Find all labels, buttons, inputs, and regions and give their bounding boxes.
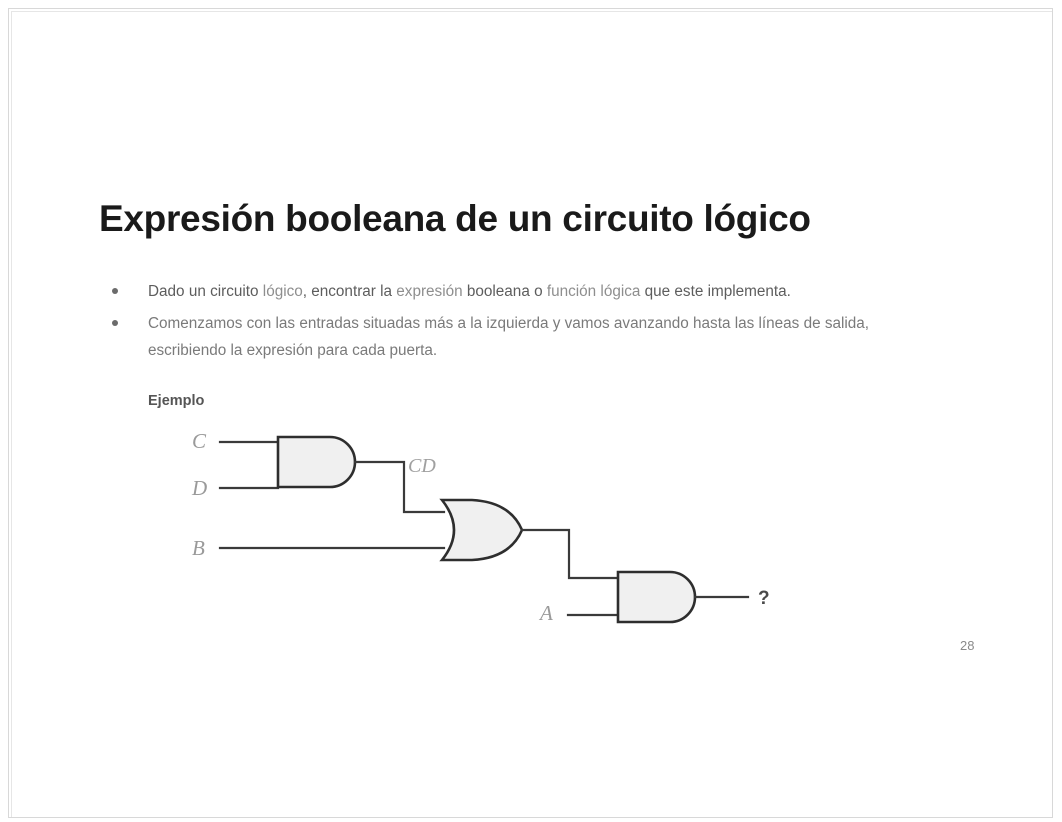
output-label-question: ? xyxy=(758,588,770,609)
presentation-slide: Expresión booleana de un circuito lógico… xyxy=(0,0,1062,822)
or-gate-1 xyxy=(442,500,522,560)
and-gate-2 xyxy=(618,572,695,622)
bullet-segment: que este implementa. xyxy=(640,283,791,300)
bullet-segment: función lógica xyxy=(547,283,641,300)
bullet-text-1: Dado un circuito lógico, encontrar la ex… xyxy=(148,279,967,306)
bullet-segment: Dado un circuito xyxy=(148,283,263,300)
input-label-a: A xyxy=(538,601,553,625)
expression-label-cd: CD xyxy=(408,455,436,477)
bullet-segment: , encontrar la xyxy=(303,283,397,300)
bullet-text-2: Comenzamos con las entradas situadas más… xyxy=(148,311,967,365)
example-heading: Ejemplo xyxy=(148,393,204,409)
bullet-marker-icon xyxy=(112,288,118,294)
input-label-d: D xyxy=(191,476,207,500)
list-item: Dado un circuito lógico, encontrar la ex… xyxy=(112,279,967,306)
bullet-list: Dado un circuito lógico, encontrar la ex… xyxy=(112,279,967,369)
input-label-b: B xyxy=(192,536,205,560)
wire-or-to-and2 xyxy=(522,530,618,578)
bullet-segment: expresión xyxy=(396,283,462,300)
list-item: Comenzamos con las entradas situadas más… xyxy=(112,311,967,365)
slide-border-frame xyxy=(8,8,1053,818)
and-gate-1 xyxy=(278,437,355,487)
bullet-line-1: Comenzamos con las entradas situadas más… xyxy=(148,315,869,332)
input-label-c: C xyxy=(192,429,207,453)
bullet-segment: lógico xyxy=(263,283,303,300)
page-title: Expresión booleana de un circuito lógico xyxy=(99,198,949,241)
bullet-segment: booleana o xyxy=(463,283,547,300)
bullet-line-2: escribiendo la expresión para cada puert… xyxy=(148,338,967,365)
circuit-svg: C D B A CD ? xyxy=(180,420,800,645)
page-number: 28 xyxy=(960,638,974,653)
slide-border-frame-inner xyxy=(11,11,1052,817)
bullet-marker-icon xyxy=(112,320,118,326)
logic-circuit-diagram: C D B A CD ? xyxy=(180,420,800,645)
